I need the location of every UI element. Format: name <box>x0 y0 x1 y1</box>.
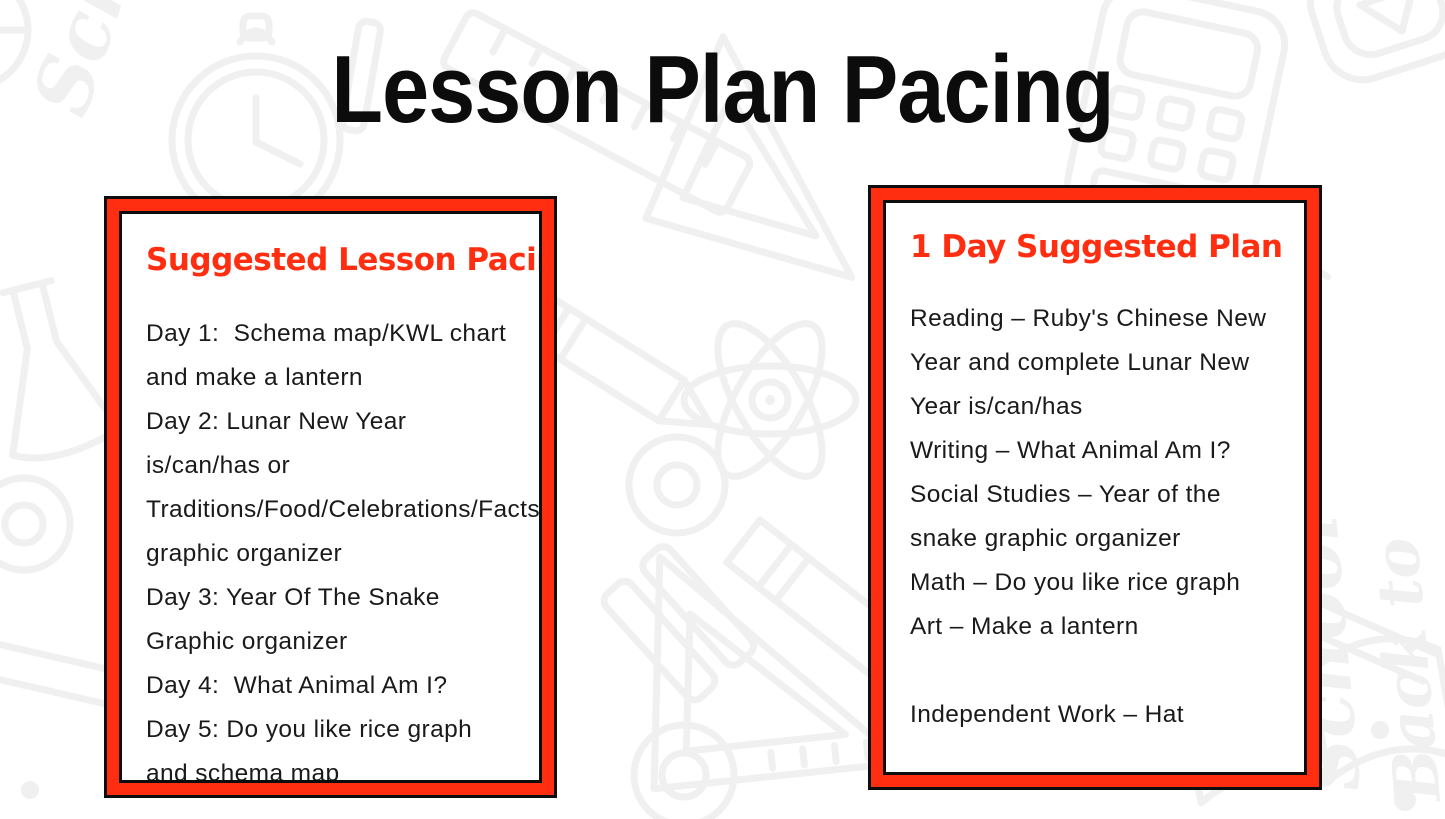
list-item: Day 3: Year Of The Snake Graphic organiz… <box>146 576 515 664</box>
set-square-icon <box>630 534 903 789</box>
list-item: Art – Make a lantern <box>910 605 1280 649</box>
slide-canvas: School School Back to <box>0 0 1445 819</box>
list-item: Independent Work – Hat <box>910 693 1280 737</box>
list-item: Day 4: What Animal Am I? <box>146 664 515 708</box>
bullseye-icon-3 <box>0 478 70 570</box>
list-item: Social Studies – Year of the snake graph… <box>910 473 1280 561</box>
dot-doodle <box>1371 721 1389 739</box>
left-card-body: Day 1: Schema map/KWL chart and make a l… <box>146 282 515 783</box>
bullseye-icon <box>629 437 725 533</box>
swirl-doodle <box>0 0 28 88</box>
right-card-body: Reading – Ruby's Chinese New Year and co… <box>910 269 1280 737</box>
dot-doodle-3 <box>21 781 39 799</box>
card-inner-left: Suggested Lesson Pacing Day 1: Schema ma… <box>119 211 542 783</box>
list-item: Reading – Ruby's Chinese New Year and co… <box>910 297 1280 429</box>
suggested-lesson-pacing-card: Suggested Lesson Pacing Day 1: Schema ma… <box>104 196 557 798</box>
list-item: Writing – What Animal Am I? <box>910 429 1280 473</box>
dot-doodle-2 <box>1394 789 1416 811</box>
paperclip-icon <box>600 542 758 704</box>
svg-text:Back to: Back to <box>1359 535 1445 807</box>
bullseye-icon-2 <box>634 725 734 819</box>
card-inner-right: 1 Day Suggested Plan Reading – Ruby's Ch… <box>883 200 1307 775</box>
right-card-heading: 1 Day Suggested Plan <box>910 219 1280 269</box>
list-item: Day 1: Schema map/KWL chart and make a l… <box>146 312 515 400</box>
one-day-suggested-plan-card: 1 Day Suggested Plan Reading – Ruby's Ch… <box>868 185 1322 790</box>
list-item: Day 2: Lunar New Year is/can/has or Trad… <box>146 400 515 576</box>
left-card-heading: Suggested Lesson Pacing <box>146 230 515 282</box>
list-item-spacer <box>910 649 1280 693</box>
back-word-doodle: Back to <box>1359 535 1445 807</box>
list-item: Math – Do you like rice graph <box>910 561 1280 605</box>
atom-icon <box>684 309 856 492</box>
list-item: Day 5: Do you like rice graph and schema… <box>146 708 515 783</box>
page-title: Lesson Plan Pacing <box>87 38 1359 142</box>
